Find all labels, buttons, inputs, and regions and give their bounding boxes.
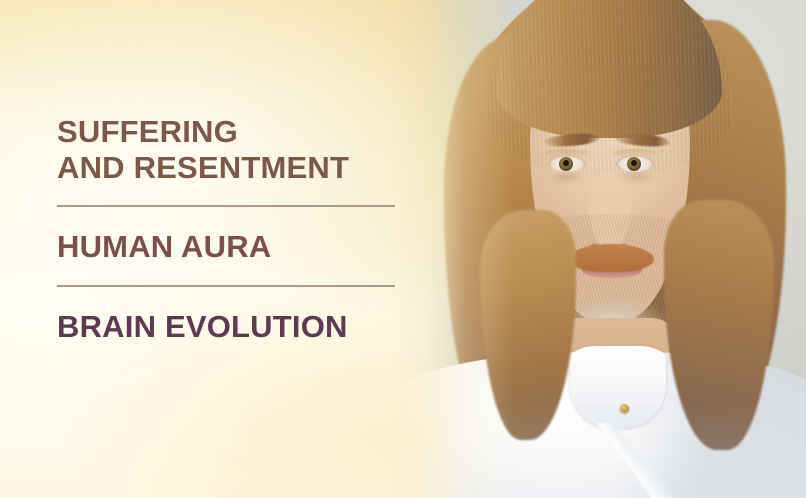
spacer-3 [57, 265, 407, 285]
headline-suffering-and-resentment: SUFFERING AND RESENTMENT [57, 114, 407, 185]
eyelid-left [545, 149, 589, 158]
promo-banner: SUFFERING AND RESENTMENT HUMAN AURA BRAI… [0, 0, 806, 498]
spacer-2 [57, 207, 407, 229]
portrait-photo [392, 0, 806, 498]
spacer-1 [57, 185, 407, 205]
pupil-right [631, 160, 637, 166]
headline-list: SUFFERING AND RESENTMENT HUMAN AURA BRAI… [57, 114, 407, 345]
hair-strand-texture [488, 0, 732, 174]
pupil-left [563, 160, 569, 166]
headline-brain-evolution: BRAIN EVOLUTION [57, 309, 407, 345]
photo-bottom-fade [392, 402, 806, 498]
eyelid-right [613, 149, 657, 158]
mustache [568, 244, 654, 272]
spacer-4 [57, 287, 407, 309]
headline-human-aura: HUMAN AURA [57, 229, 407, 265]
undereye-shadow-left [547, 170, 587, 184]
